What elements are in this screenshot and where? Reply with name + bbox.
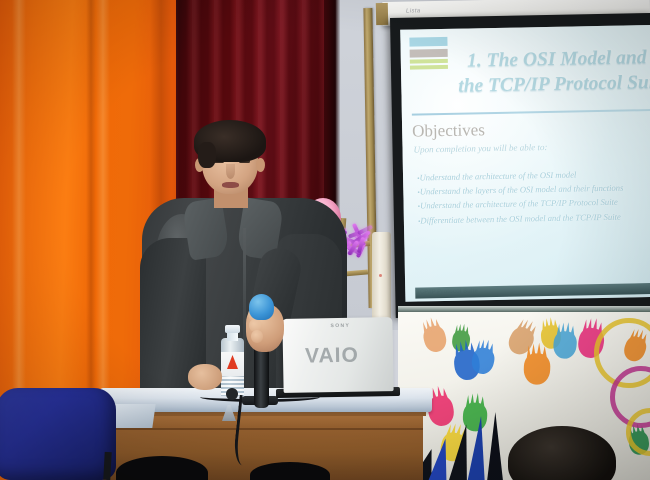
microphone-windscreen (249, 294, 274, 320)
cable-connector (226, 388, 238, 400)
projected-slide: 1. The OSI Model and the TCP/IP Protocol… (400, 25, 650, 302)
presenter-hand-left (188, 364, 222, 390)
screen-brand-label: Lista (406, 8, 421, 14)
handprint (552, 330, 578, 360)
screen-casing-end-cap (376, 3, 388, 25)
presenter-mouth (222, 182, 239, 188)
rolled-paper (372, 232, 391, 320)
laptop-brand-label: SONY (330, 323, 350, 329)
presenter-ear-right (256, 158, 265, 172)
projector-screen: 1. The OSI Model and the TCP/IP Protocol… (390, 13, 650, 318)
laptop-lid: SONY VAIO (282, 317, 393, 393)
slide-divider-rule (412, 109, 650, 116)
slide-bullet-list: Understand the architecture of the OSI m… (417, 166, 650, 229)
slide-bottom-band (415, 283, 650, 299)
slide-subtitle: Upon completion you will be able to: (413, 142, 547, 155)
water-bottle-cap (225, 325, 240, 333)
water-bottle-label (221, 352, 244, 376)
handprint (421, 324, 449, 355)
presenter-nose (226, 164, 235, 179)
slide-title-line-2: the TCP/IP Protocol Suite (419, 69, 650, 99)
banner-triangle (486, 412, 504, 480)
presenter-hair (194, 120, 266, 162)
slide-section-heading: Objectives (412, 120, 485, 141)
presentation-photo-scene: Lista 1. The OSI Model and the TCP/IP Pr… (0, 0, 650, 480)
slide-title: 1. The OSI Model and the TCP/IP Protocol… (419, 44, 650, 99)
laptop-wordmark: VAIO (305, 344, 359, 369)
handprint (523, 353, 550, 385)
chair-frame (103, 452, 111, 480)
blue-chair-back (0, 388, 116, 480)
